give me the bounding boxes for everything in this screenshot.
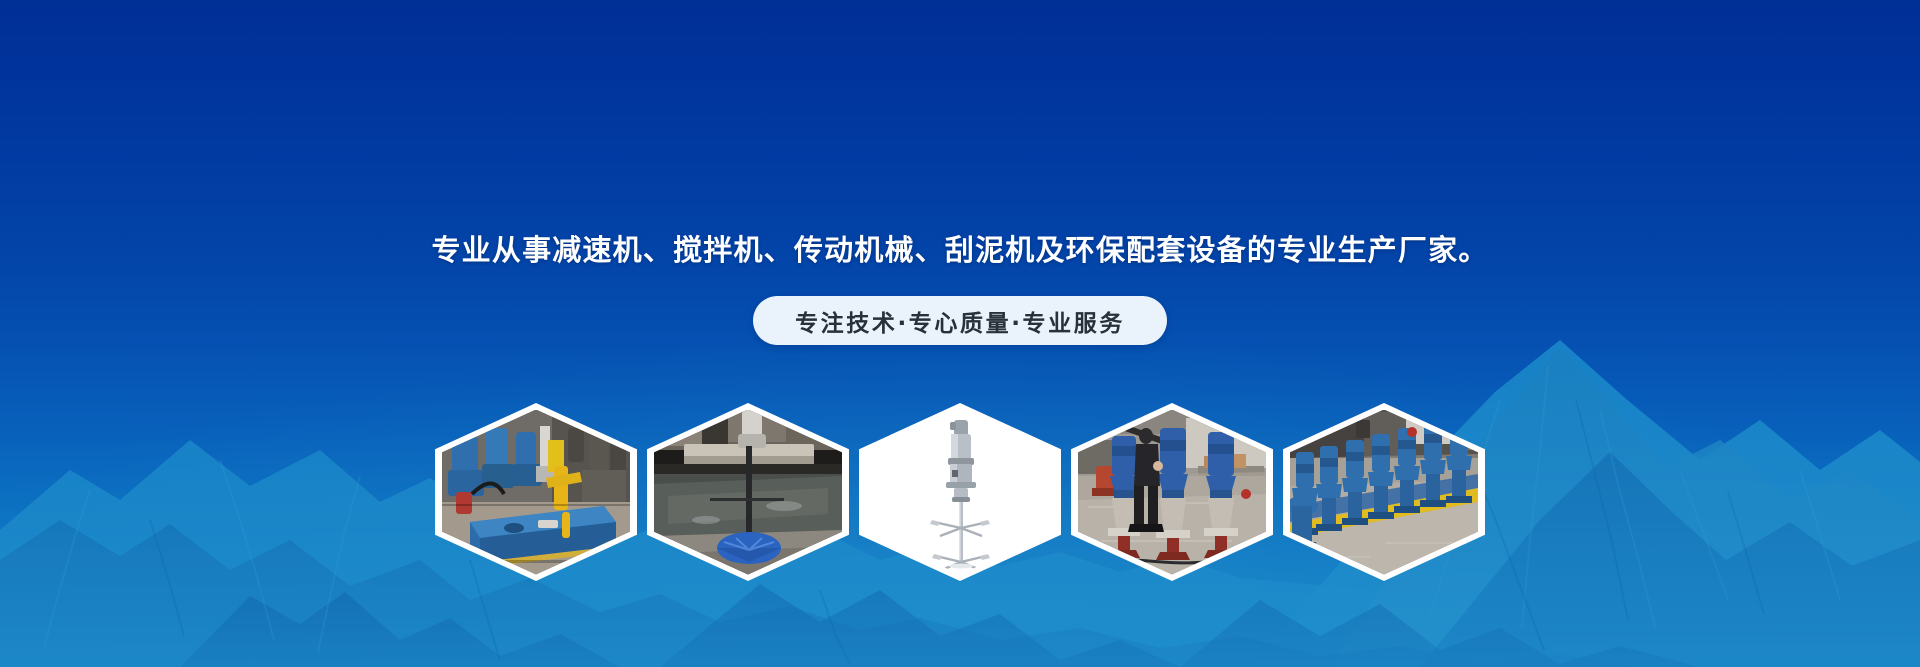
slogan-text: 专注技术·专心质量·专业服务 xyxy=(795,304,1125,338)
hex-photo-workshop-units[interactable] xyxy=(1071,403,1273,581)
slogan-pill[interactable]: 专注技术·专心质量·专业服务 xyxy=(753,296,1167,345)
hero-banner: 专业从事减速机、搅拌机、传动机械、刮泥机及环保配套设备的专业生产厂家。 专注技术… xyxy=(0,0,1920,667)
hex-image-frame xyxy=(654,410,842,575)
hex-image-frame xyxy=(1078,410,1266,575)
hex-photo-reducer-row[interactable] xyxy=(1283,403,1485,581)
hexagon-photo-gallery xyxy=(435,403,1485,581)
hex-photo-gearbox-assembly[interactable] xyxy=(435,403,637,581)
hex-photo-mixer-product[interactable] xyxy=(859,403,1061,581)
hex-photo-tank-mixer[interactable] xyxy=(647,403,849,581)
hex-image-frame xyxy=(866,410,1054,575)
banner-headline: 专业从事减速机、搅拌机、传动机械、刮泥机及环保配套设备的专业生产厂家。 xyxy=(431,232,1488,268)
hex-image-frame xyxy=(442,410,630,575)
hex-image-frame xyxy=(1290,410,1478,575)
